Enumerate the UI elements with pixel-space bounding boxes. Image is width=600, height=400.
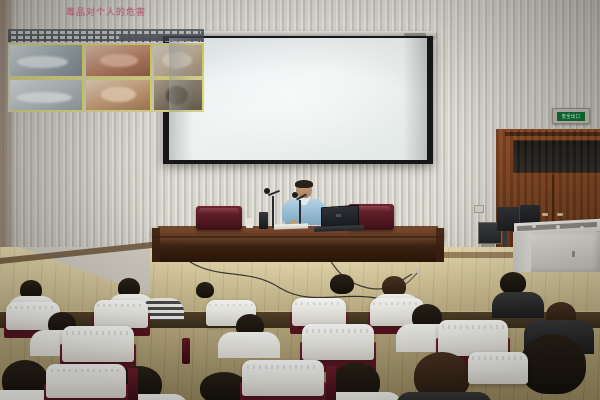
image-vignette [0, 0, 600, 400]
lecture-hall-photo: 毒品对个人的危害 [0, 0, 600, 400]
